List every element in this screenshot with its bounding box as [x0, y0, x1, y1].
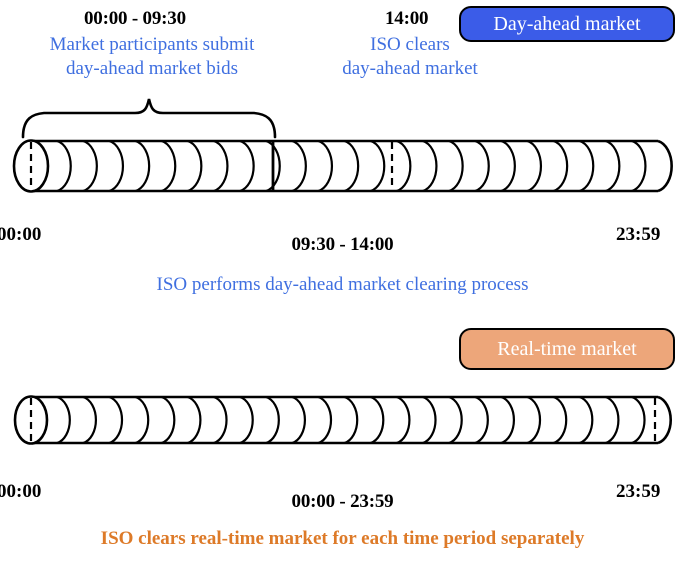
diagram-canvas: 00:00 - 09:30 Market participants submit… [0, 0, 685, 561]
real-time-period-time-label: 00:00 - 23:59 [0, 491, 685, 512]
clearing-process-time-label: 09:30 - 14:00 [0, 234, 685, 255]
clearing-event-time-label: 14:00 [385, 8, 428, 29]
clearing-process-description: ISO performs day-ahead market clearing p… [0, 274, 685, 295]
bid-window-description-line2: day-ahead market bids [16, 58, 288, 79]
real-time-timeline-cylinder [15, 397, 671, 444]
day-ahead-timeline-cylinder [14, 141, 672, 192]
real-time-market-badge-label: Real-time market [497, 338, 636, 361]
day-ahead-market-badge[interactable]: Day-ahead market [459, 6, 675, 42]
bid-window-description-line1: Market participants submit [16, 34, 288, 55]
bid-window-brace [23, 99, 275, 137]
bid-window-time-label: 00:00 - 09:30 [84, 8, 186, 29]
day-ahead-market-badge-label: Day-ahead market [493, 13, 640, 36]
real-time-period-description: ISO clears real-time market for each tim… [0, 528, 685, 549]
real-time-market-badge[interactable]: Real-time market [459, 328, 675, 370]
clearing-event-description-line2: day-ahead market [330, 58, 490, 79]
